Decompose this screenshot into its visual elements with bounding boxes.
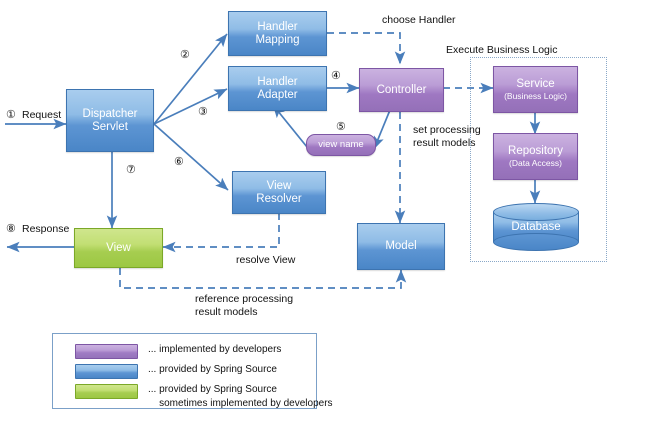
node-dispatcher-servlet[interactable]: Dispatcher Servlet: [66, 89, 154, 152]
step-number-3: ③: [198, 105, 208, 118]
node-label: Repository: [508, 145, 563, 158]
label-choose-handler: choose Handler: [382, 14, 456, 27]
label-response: Response: [22, 223, 69, 236]
step-number-8: ⑧: [6, 222, 16, 235]
node-service[interactable]: Service (Business Logic): [493, 66, 578, 113]
step-number-6: ⑥: [174, 155, 184, 168]
node-label-line2: Servlet: [92, 121, 128, 134]
node-view-resolver[interactable]: View Resolver: [232, 171, 326, 214]
label-request: Request: [22, 109, 61, 122]
node-label: View: [267, 180, 292, 193]
legend-label: ... implemented by developers: [148, 343, 281, 357]
node-handler-mapping[interactable]: Handler Mapping: [228, 11, 327, 56]
node-sublabel: (Business Logic): [504, 92, 567, 102]
database-cylinder-bottom: [493, 233, 579, 251]
step-number-5: ⑤: [336, 120, 346, 133]
node-label: Handler: [257, 76, 297, 89]
legend-swatch-blue: [75, 364, 138, 379]
legend-item: ... implemented by developers: [75, 343, 281, 359]
node-view-name[interactable]: view name: [306, 134, 376, 156]
node-view[interactable]: View: [74, 228, 163, 268]
node-label: Service: [516, 78, 554, 91]
node-model[interactable]: Model: [357, 223, 445, 270]
node-handler-adapter[interactable]: Handler Adapter: [228, 66, 327, 111]
node-label: view name: [318, 140, 363, 151]
label-reference-processing-result-models: reference processing result models: [195, 293, 293, 320]
node-label-line2: Mapping: [255, 34, 299, 47]
legend-label: ... provided by Spring Source sometimes …: [148, 383, 333, 410]
legend-label: ... provided by Spring Source: [148, 363, 277, 377]
node-label: Dispatcher: [83, 108, 138, 121]
node-controller[interactable]: Controller: [359, 68, 444, 112]
legend-swatch-green: [75, 384, 138, 399]
execute-business-logic-label: Execute Business Logic: [446, 44, 557, 56]
node-label: Database: [493, 221, 579, 233]
node-label-line2: Adapter: [257, 89, 297, 102]
legend-item: ... provided by Spring Source: [75, 363, 277, 379]
node-label: Handler: [257, 21, 297, 34]
legend-swatch-purple: [75, 344, 138, 359]
node-label: Controller: [377, 84, 427, 97]
node-sublabel: (Data Access): [509, 159, 562, 169]
step-number-7: ⑦: [126, 163, 136, 176]
legend-item: ... provided by Spring Source sometimes …: [75, 383, 333, 410]
step-number-4: ④: [331, 69, 341, 82]
step-number-1: ①: [6, 108, 16, 121]
node-label: View: [106, 242, 131, 255]
diagram-canvas: Execute Business Logic: [0, 0, 666, 430]
legend: ... implemented by developers ... provid…: [52, 333, 317, 409]
database-cylinder-top: [493, 203, 579, 221]
node-repository[interactable]: Repository (Data Access): [493, 133, 578, 180]
node-database[interactable]: Database: [493, 203, 579, 251]
node-label: Model: [385, 240, 416, 253]
label-resolve-view: resolve View: [236, 254, 295, 267]
node-label-line2: Resolver: [256, 193, 301, 206]
step-number-2: ②: [180, 48, 190, 61]
label-set-processing-result-models: set processing result models: [413, 124, 481, 151]
